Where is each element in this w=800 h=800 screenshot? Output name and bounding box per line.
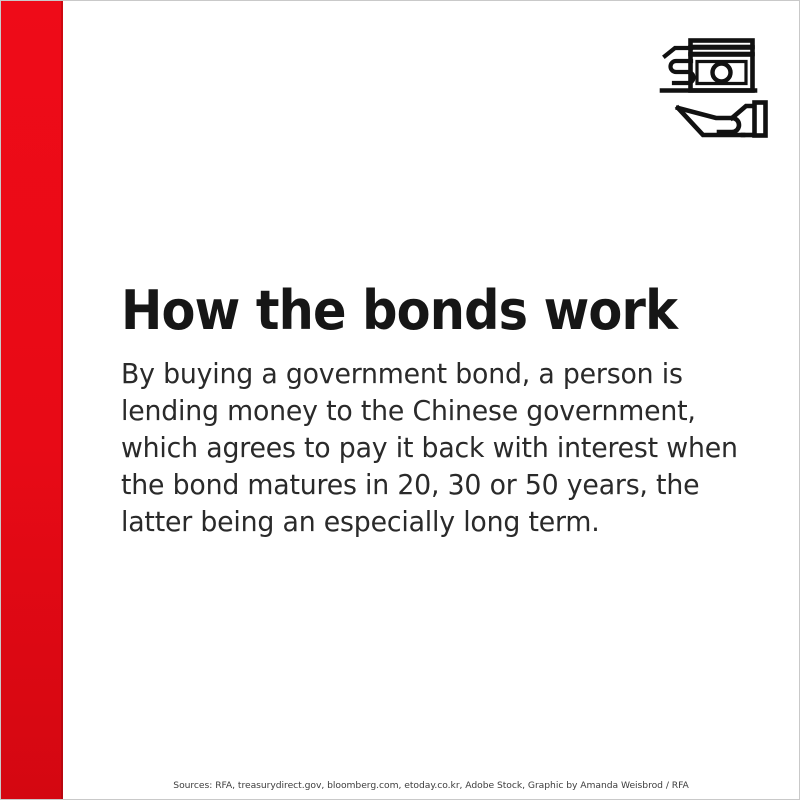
accent-bar-edge bbox=[61, 1, 63, 799]
body-line: which agrees to pay it back with interes… bbox=[121, 429, 732, 466]
left-accent-bar bbox=[1, 1, 63, 799]
body-line: the bond matures in 20, 30 or 50 years, … bbox=[121, 466, 732, 503]
body-line: latter being an especially long term. bbox=[121, 503, 732, 540]
page-title: How the bonds work bbox=[121, 282, 707, 340]
infographic-card: How the bonds work By buying a governmen… bbox=[0, 0, 800, 800]
text-block: How the bonds work By buying a governmen… bbox=[121, 282, 761, 540]
body-line: lending money to the Chinese government, bbox=[121, 392, 732, 429]
sources-credit: Sources: RFA, treasurydirect.gov, bloomb… bbox=[1, 780, 799, 792]
money-in-hand-icon bbox=[656, 26, 781, 141]
body-paragraph: By buying a government bond, a person is… bbox=[121, 355, 732, 540]
body-line: By buying a government bond, a person is bbox=[121, 355, 732, 392]
